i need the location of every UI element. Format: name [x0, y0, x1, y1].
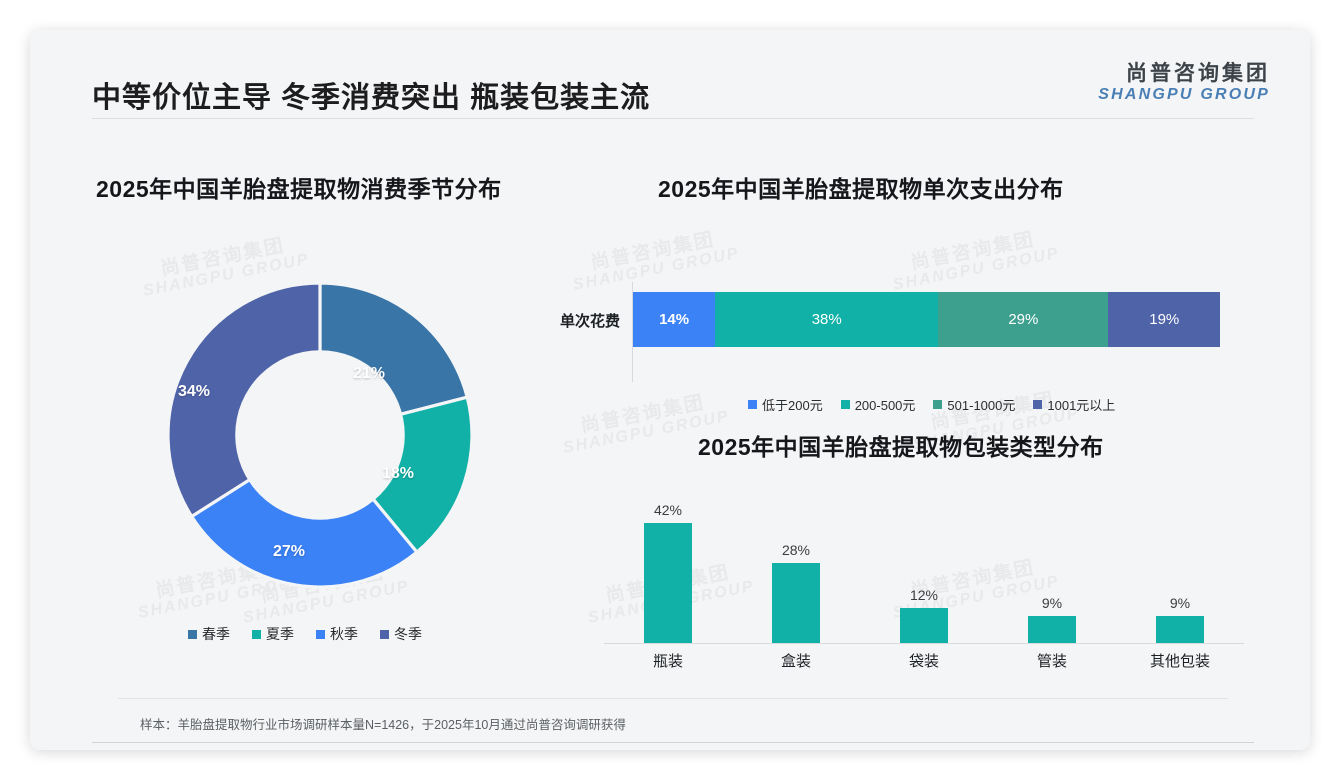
legend-label: 秋季	[330, 624, 358, 644]
stacked-segment-under200[interactable]: 14%	[633, 292, 715, 347]
column-plot-area: 42% 28% 12% 9% 9%	[604, 495, 1244, 643]
column-bar	[772, 563, 820, 643]
package-chart-title: 2025年中国羊胎盘提取物包装类型分布	[698, 428, 1104, 462]
column-value: 9%	[1042, 595, 1062, 611]
header-divider	[92, 118, 1254, 119]
logo-cn-text: 尚普咨询集团	[1098, 62, 1270, 86]
sample-footnote: 样本：羊胎盘提取物行业市场调研样本量N=1426，于2025年10月通过尚普咨询…	[140, 714, 626, 733]
column-value: 42%	[654, 502, 682, 518]
legend-swatch-icon	[841, 400, 850, 409]
legend-label: 501-1000元	[947, 395, 1015, 414]
legend-item-summer[interactable]: 夏季	[252, 624, 294, 644]
season-legend: 春季 夏季 秋季 冬季	[188, 624, 422, 644]
legend-swatch-icon	[380, 630, 389, 639]
legend-swatch-icon	[316, 630, 325, 639]
legend-label: 夏季	[266, 624, 294, 644]
segment-value: 14%	[659, 311, 689, 328]
donut-label-summer: 18%	[382, 465, 414, 483]
slide-header: 中等价位主导 冬季消费突出 瓶装包装主流 尚普咨询集团 SHANGPU GROU…	[30, 30, 1310, 116]
column-bar	[900, 608, 948, 643]
spend-chart-title: 2025年中国羊胎盘提取物单次支出分布	[658, 170, 1064, 204]
watermark-cn: 尚普咨询集团	[568, 226, 738, 278]
legend-item-autumn[interactable]: 秋季	[316, 624, 358, 644]
legend-item-501to1000[interactable]: 501-1000元	[933, 395, 1015, 414]
legend-swatch-icon	[188, 630, 197, 639]
column-category-bottle: 瓶装	[613, 650, 723, 671]
legend-item-winter[interactable]: 冬季	[380, 624, 422, 644]
legend-swatch-icon	[1033, 400, 1042, 409]
legend-label: 200-500元	[855, 395, 916, 414]
spend-stacked-bar-chart: 单次花费 14% 38% 29% 19%	[528, 276, 1228, 386]
donut-label-autumn: 27%	[273, 543, 305, 561]
column-category-other: 其他包装	[1125, 650, 1235, 671]
stacked-bar-category-label: 单次花费	[528, 310, 620, 331]
donut-label-winter: 34%	[178, 383, 210, 401]
footnote-divider	[118, 698, 1228, 699]
brand-logo: 尚普咨询集团 SHANGPU GROUP	[1098, 62, 1270, 105]
legend-swatch-icon	[933, 400, 942, 409]
column-item-bag[interactable]: 12%	[869, 495, 979, 643]
logo-en-text: SHANGPU GROUP	[1098, 86, 1270, 104]
column-value: 12%	[910, 587, 938, 603]
donut-svg	[160, 275, 480, 595]
segment-value: 38%	[812, 311, 842, 328]
stacked-segment-over1001[interactable]: 19%	[1108, 292, 1220, 347]
column-item-tube[interactable]: 9%	[997, 495, 1107, 643]
legend-item-200to500[interactable]: 200-500元	[841, 395, 916, 414]
column-item-bottle[interactable]: 42%	[613, 495, 723, 643]
stacked-bar-track: 14% 38% 29% 19%	[633, 292, 1220, 347]
column-value: 9%	[1170, 595, 1190, 611]
column-bar	[1028, 616, 1076, 643]
column-item-box[interactable]: 28%	[741, 495, 851, 643]
stacked-segment-501to1000[interactable]: 29%	[938, 292, 1108, 347]
donut-label-spring: 21%	[353, 365, 385, 383]
season-chart-title: 2025年中国羊胎盘提取物消费季节分布	[96, 170, 502, 204]
segment-value: 29%	[1008, 311, 1038, 328]
legend-swatch-icon	[748, 400, 757, 409]
column-bar	[1156, 616, 1204, 643]
legend-label: 低于200元	[762, 395, 823, 414]
legend-label: 春季	[202, 624, 230, 644]
legend-item-spring[interactable]: 春季	[188, 624, 230, 644]
season-donut-chart: 21% 18% 27% 34%	[130, 275, 510, 655]
column-category-labels: 瓶装 盒装 袋装 管装 其他包装	[604, 650, 1244, 671]
column-value: 28%	[782, 542, 810, 558]
package-column-chart: 42% 28% 12% 9% 9% 瓶装 盒装 袋装	[590, 495, 1250, 695]
column-category-tube: 管装	[997, 650, 1107, 671]
stacked-segment-200to500[interactable]: 38%	[715, 292, 938, 347]
legend-item-over1001[interactable]: 1001元以上	[1033, 395, 1115, 414]
legend-swatch-icon	[252, 630, 261, 639]
column-axis-line	[604, 643, 1244, 644]
column-category-box: 盒装	[741, 650, 851, 671]
slide-canvas: 尚普咨询集团 SHANGPU GROUP 尚普咨询集团 SHANGPU GROU…	[30, 30, 1310, 750]
spend-legend: 低于200元 200-500元 501-1000元 1001元以上	[748, 395, 1133, 414]
column-item-other[interactable]: 9%	[1125, 495, 1235, 643]
column-bar	[644, 523, 692, 643]
watermark-cn: 尚普咨询集团	[888, 226, 1058, 278]
legend-label: 冬季	[394, 624, 422, 644]
segment-value: 19%	[1149, 311, 1179, 328]
legend-label: 1001元以上	[1047, 395, 1115, 414]
page-title: 中等价位主导 冬季消费突出 瓶装包装主流	[92, 74, 650, 116]
column-category-bag: 袋装	[869, 650, 979, 671]
legend-item-under200[interactable]: 低于200元	[748, 395, 823, 414]
footer-divider	[92, 742, 1254, 743]
